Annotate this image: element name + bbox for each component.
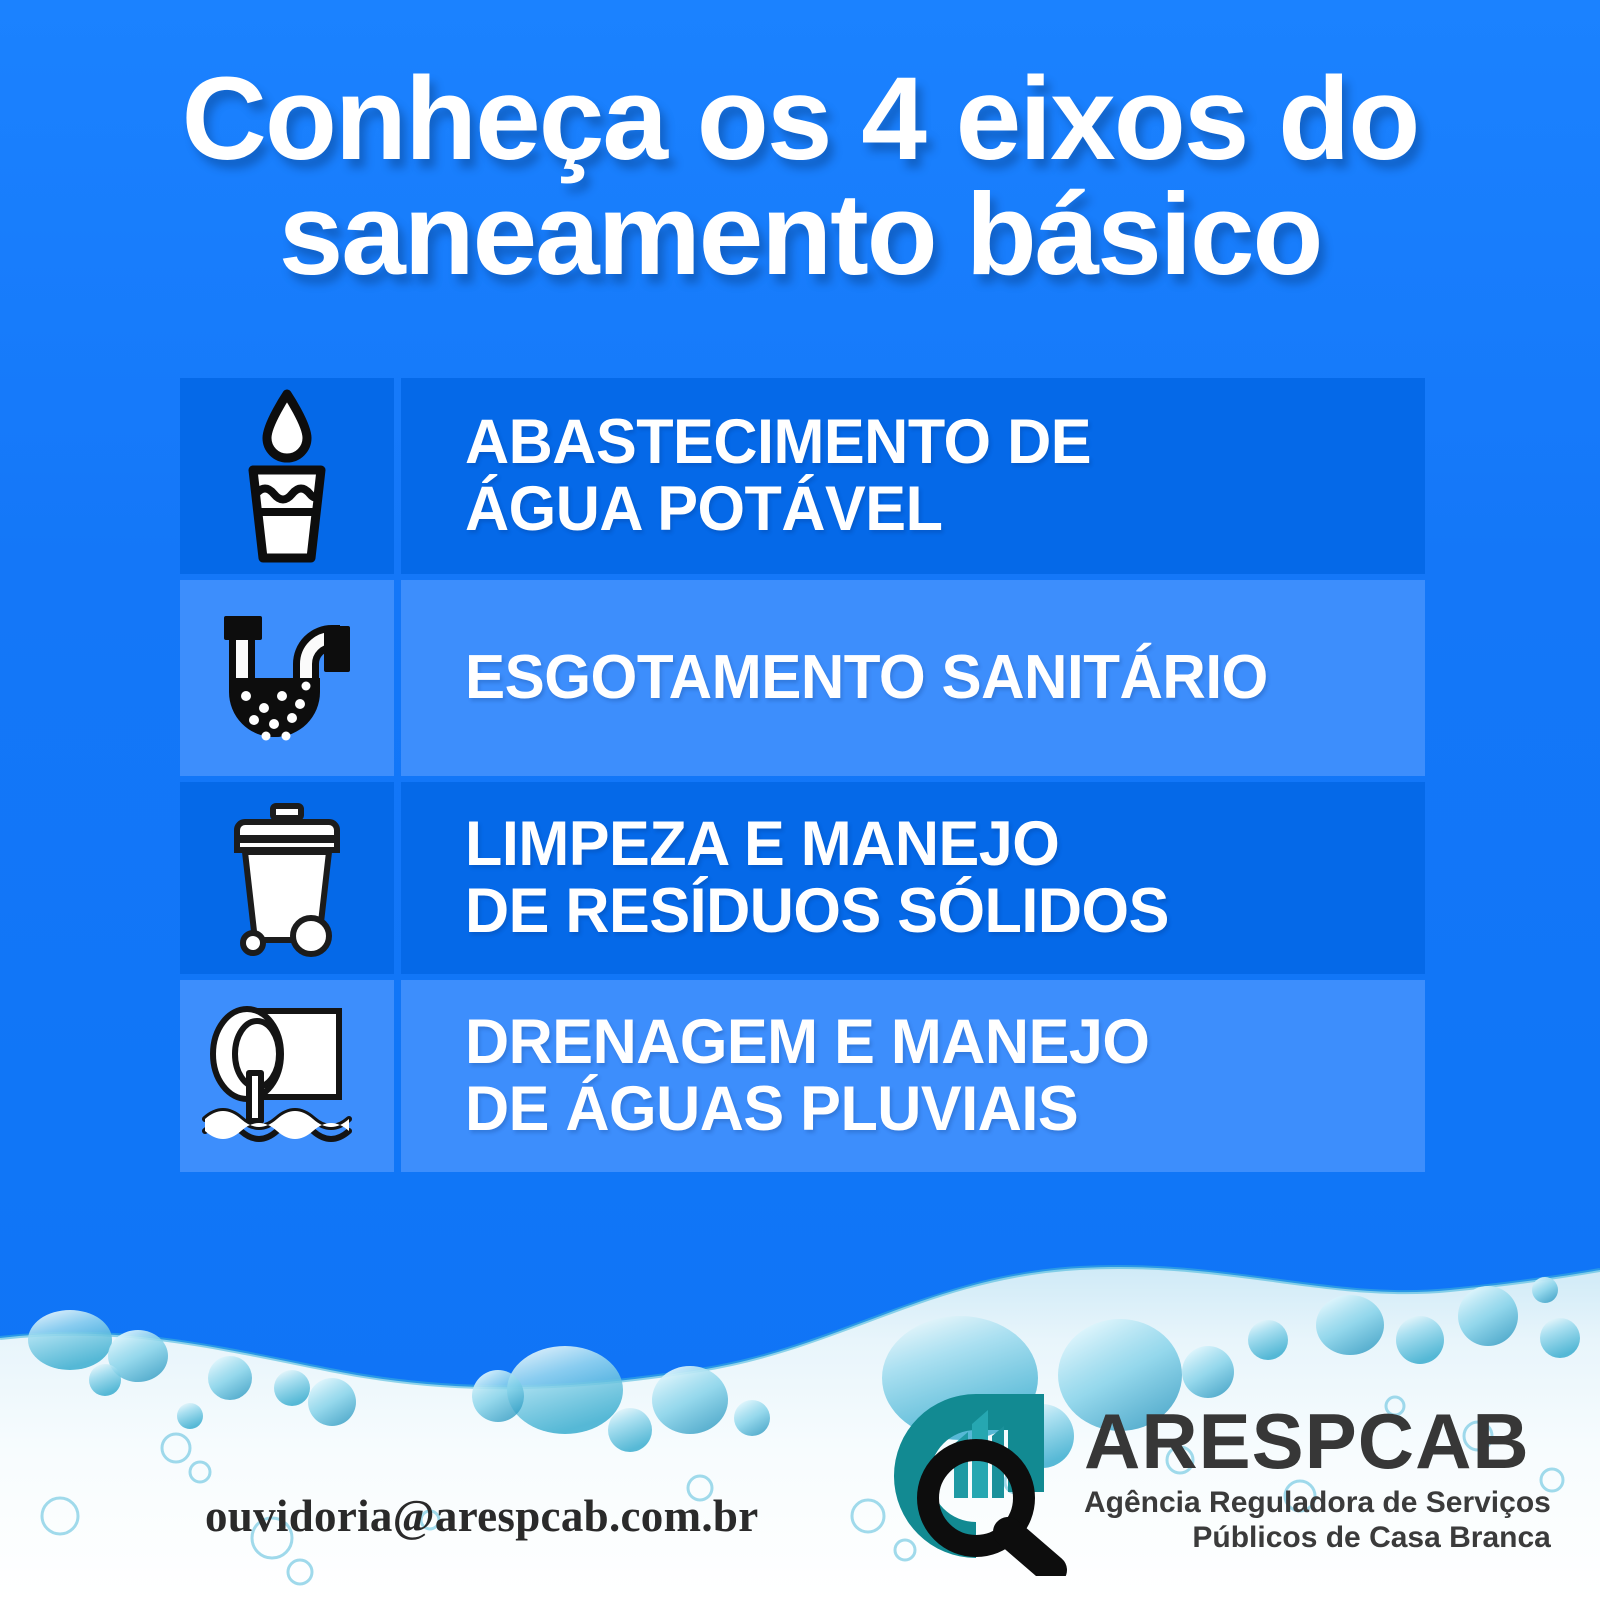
brand-name: ARESPCAB (1084, 1404, 1551, 1479)
drain-p-trap-pipe-icon (212, 600, 362, 756)
brand-tagline: Agência Reguladora de Serviços Públicos … (1084, 1485, 1551, 1556)
saneamento-infographic-poster: Conheça os 4 eixos do saneamento básico … (0, 0, 1600, 1600)
axis-icon-cell (180, 782, 394, 974)
axis-label-line-2: ÁGUA POTÁVEL (465, 476, 1091, 543)
axis-text-cell: ABASTECIMENTO DE ÁGUA POTÁVEL (401, 378, 1425, 574)
arespcab-logo: ARESPCAB Agência Reguladora de Serviços … (880, 1368, 1520, 1588)
axis-label: DRENAGEM E MANEJO DE ÁGUAS PLUVIAIS (465, 1009, 1149, 1143)
wheeled-trash-bin-icon (223, 798, 351, 958)
title-line-1: Conheça os 4 eixos do (0, 62, 1600, 178)
axis-label: ABASTECIMENTO DE ÁGUA POTÁVEL (465, 409, 1091, 543)
logo-wordmark: ARESPCAB Agência Reguladora de Serviços … (1084, 1400, 1551, 1556)
axis-text-cell: DRENAGEM E MANEJO DE ÁGUAS PLUVIAIS (401, 980, 1425, 1172)
water-glass-with-droplet-icon (223, 388, 351, 564)
arespcab-logo-mark-icon (880, 1380, 1070, 1576)
axis-label-line-2: DE RESÍDUOS SÓLIDOS (465, 878, 1169, 945)
drainage-pipe-outflow-icon (199, 1001, 375, 1151)
axis-label-line-1: DRENAGEM E MANEJO (465, 1007, 1149, 1077)
axis-row-esgotamento: ESGOTAMENTO SANITÁRIO (180, 580, 1425, 776)
brand-tagline-line-2: Públicos de Casa Branca (1084, 1520, 1551, 1555)
axis-text-cell: ESGOTAMENTO SANITÁRIO (401, 580, 1425, 776)
axis-label-line-1: LIMPEZA E MANEJO (465, 809, 1059, 879)
axis-icon-cell (180, 580, 394, 776)
brand-tagline-line-1: Agência Reguladora de Serviços (1084, 1485, 1551, 1520)
title-line-2: saneamento básico (0, 178, 1600, 292)
axis-label-line-1: ESGOTAMENTO SANITÁRIO (465, 643, 1268, 712)
axis-icon-cell (180, 378, 394, 574)
axis-list: ABASTECIMENTO DE ÁGUA POTÁVEL (180, 378, 1425, 1172)
axis-row-abastecimento: ABASTECIMENTO DE ÁGUA POTÁVEL (180, 378, 1425, 574)
axis-row-drenagem: DRENAGEM E MANEJO DE ÁGUAS PLUVIAIS (180, 980, 1425, 1172)
axis-label: ESGOTAMENTO SANITÁRIO (465, 645, 1268, 711)
axis-label: LIMPEZA E MANEJO DE RESÍDUOS SÓLIDOS (465, 811, 1169, 945)
page-title: Conheça os 4 eixos do saneamento básico (0, 62, 1600, 291)
axis-text-cell: LIMPEZA E MANEJO DE RESÍDUOS SÓLIDOS (401, 782, 1425, 974)
axis-label-line-1: ABASTECIMENTO DE (465, 407, 1091, 477)
axis-row-residuos: LIMPEZA E MANEJO DE RESÍDUOS SÓLIDOS (180, 782, 1425, 974)
axis-icon-cell (180, 980, 394, 1172)
axis-label-line-2: DE ÁGUAS PLUVIAIS (465, 1076, 1149, 1143)
contact-email[interactable]: ouvidoria@arespcab.com.br (205, 1490, 759, 1542)
